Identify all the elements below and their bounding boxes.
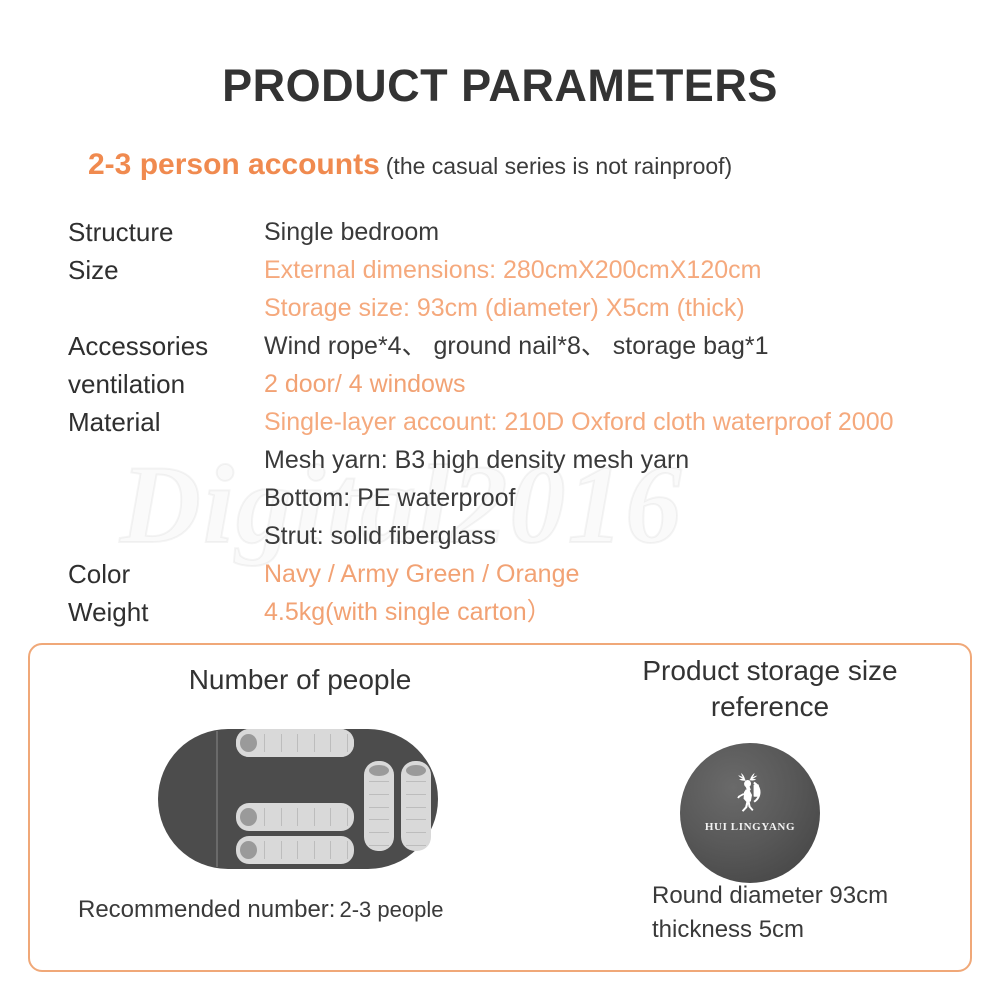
spec-table: Structure Single bedroom Size External d… xyxy=(68,213,948,631)
people-caption-value: 2-3 people xyxy=(339,897,443,922)
spec-values: Single-layer account: 210D Oxford cloth … xyxy=(264,403,948,555)
spec-row: Accessories Wind rope*4、 ground nail*8、 … xyxy=(68,327,948,365)
pillow-icon xyxy=(240,734,257,752)
spec-value: Single bedroom xyxy=(264,213,948,251)
people-heading: Number of people xyxy=(30,662,570,698)
spec-values: 4.5kg(with single carton） xyxy=(264,593,948,631)
spec-values: Navy / Army Green / Orange xyxy=(264,555,948,593)
storage-heading: Product storage size reference xyxy=(570,653,970,725)
storage-heading-line1: Product storage size xyxy=(642,655,897,686)
pad-stripes xyxy=(264,734,348,752)
spec-row: Material Single-layer account: 210D Oxfo… xyxy=(68,403,948,555)
spec-value: Mesh yarn: B3 high density mesh yarn xyxy=(264,441,948,479)
info-panel: Number of people xyxy=(28,643,972,972)
people-column: Number of people xyxy=(30,645,570,970)
spec-row: Structure Single bedroom xyxy=(68,213,948,251)
subtitle-note: (the casual series is not rainproof) xyxy=(386,153,732,179)
storage-bag-figure: HUI LINGYANG xyxy=(680,743,820,883)
spec-label: Size xyxy=(68,251,264,289)
spec-value: 4.5kg(with single carton） xyxy=(264,593,948,631)
sleeping-pad-horizontal xyxy=(236,803,354,831)
storage-heading-line2: reference xyxy=(711,691,829,722)
spec-values: External dimensions: 280cmX200cmX120cm S… xyxy=(264,251,948,327)
pillow-icon xyxy=(406,765,426,776)
pillow-icon xyxy=(240,841,257,859)
spec-value: Strut: solid fiberglass xyxy=(264,517,948,555)
page-title: PRODUCT PARAMETERS xyxy=(0,60,1000,112)
spec-label: ventilation xyxy=(68,365,264,403)
deer-icon xyxy=(723,767,777,819)
spec-value: Wind rope*4、 ground nail*8、 storage bag*… xyxy=(264,327,948,365)
spec-row: Size External dimensions: 280cmX200cmX12… xyxy=(68,251,948,327)
spec-value: Navy / Army Green / Orange xyxy=(264,555,948,593)
people-caption: Recommended number:2-3 people xyxy=(78,893,443,927)
spec-values: Single bedroom xyxy=(264,213,948,251)
spec-row: Color Navy / Army Green / Orange xyxy=(68,555,948,593)
people-caption-label: Recommended number: xyxy=(78,896,335,923)
spec-label: Color xyxy=(68,555,264,593)
spec-value: Storage size: 93cm (diameter) X5cm (thic… xyxy=(264,289,948,327)
pad-stripes xyxy=(369,781,389,846)
tent-divider-line xyxy=(216,731,218,867)
subtitle-main: 2-3 person accounts xyxy=(88,148,380,181)
brand-name: HUI LINGYANG xyxy=(680,821,820,833)
pillow-icon xyxy=(240,808,257,826)
spec-value: Single-layer account: 210D Oxford cloth … xyxy=(264,403,948,441)
storage-caption-line2: thickness 5cm xyxy=(652,913,952,947)
sleeping-pad-vertical xyxy=(401,761,431,851)
pad-stripes xyxy=(406,781,426,846)
pad-stripes xyxy=(264,841,348,859)
spec-row: Weight 4.5kg(with single carton） xyxy=(68,593,948,631)
brand-logo: HUI LINGYANG xyxy=(680,767,820,833)
sleeping-pad-horizontal xyxy=(236,836,354,864)
sleeping-pad-horizontal xyxy=(236,729,354,757)
spec-values: Wind rope*4、 ground nail*8、 storage bag*… xyxy=(264,327,948,365)
spec-row: ventilation 2 door/ 4 windows xyxy=(68,365,948,403)
spec-value: External dimensions: 280cmX200cmX120cm xyxy=(264,251,948,289)
pad-stripes xyxy=(264,808,348,826)
spec-values: 2 door/ 4 windows xyxy=(264,365,948,403)
spec-label: Structure xyxy=(68,213,264,251)
spec-value: Bottom: PE waterproof xyxy=(264,479,948,517)
spec-label: Accessories xyxy=(68,327,264,365)
spec-label: Weight xyxy=(68,593,264,631)
spec-label: Material xyxy=(68,403,264,441)
pillow-icon xyxy=(369,765,389,776)
subtitle: 2-3 person accounts(the casual series is… xyxy=(88,148,732,182)
storage-caption: Round diameter 93cm thickness 5cm xyxy=(652,879,952,947)
spec-value: 2 door/ 4 windows xyxy=(264,365,948,403)
tent-floor-diagram xyxy=(158,729,438,869)
sleeping-pad-vertical xyxy=(364,761,394,851)
storage-column: Product storage size reference xyxy=(570,645,970,970)
storage-caption-line1: Round diameter 93cm xyxy=(652,879,952,913)
